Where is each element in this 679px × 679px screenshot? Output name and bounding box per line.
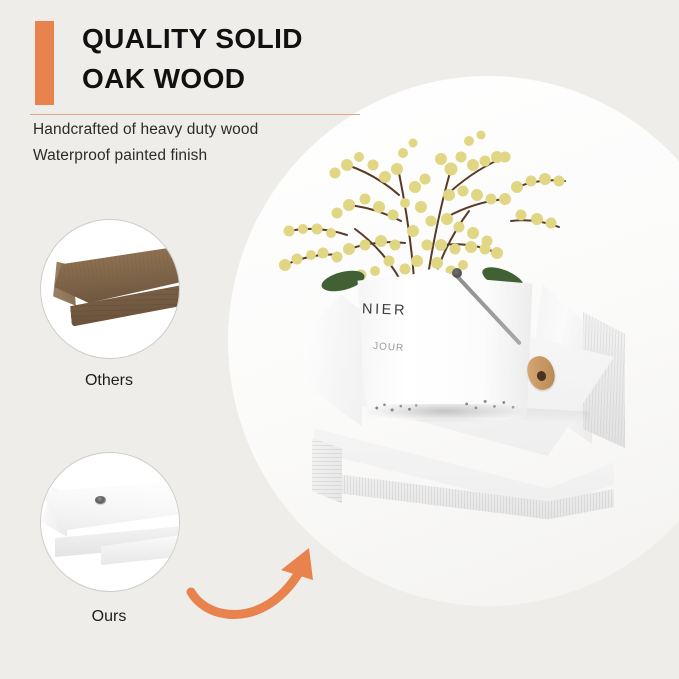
subline-handcrafted: Handcrafted of heavy duty wood [33,121,258,139]
comparison-label-others: Others [29,372,189,390]
promo-image-canvas: QUALITY SOLID OAK WOOD Handcrafted of he… [0,0,679,679]
headline-line-1: QUALITY SOLID [82,23,303,54]
white-shelf-illustration [41,479,180,569]
comparison-thumb-others [40,219,180,359]
accent-bar [35,21,54,105]
wood-shelf-illustration [44,244,180,341]
comparison-label-ours: Ours [29,608,189,626]
comparison-thumb-ours [40,452,180,592]
subline-waterproof: Waterproof painted finish [33,147,207,165]
screw-hole-icon [95,496,106,504]
curved-arrow-icon [185,530,330,630]
headline-line-2: OAK WOOD [82,59,402,99]
white-shelf-top [41,479,180,531]
pot-handle-pivot [452,268,462,278]
shelf-left-grain-texture [312,438,342,514]
pot-sublabel-text: JOUR [373,341,405,354]
pot-label-text: NIER [362,301,408,319]
page-title: QUALITY SOLID OAK WOOD [82,19,402,99]
plant-foliage [255,95,575,295]
pot-contact-shadow [366,404,524,422]
